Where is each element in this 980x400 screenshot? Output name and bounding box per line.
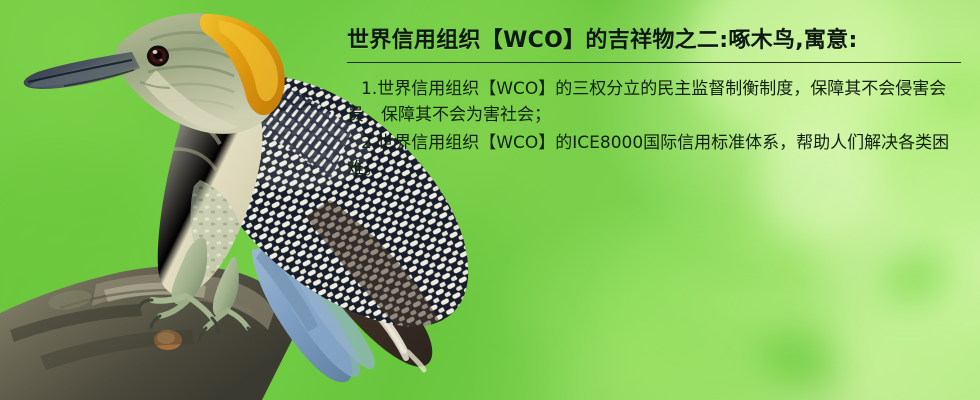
wco-mascot-banner: 世界信用组织【WCO】的吉祥物之二:啄木鸟,寓意: 1.世界信用组织【WCO】的… xyxy=(0,0,980,400)
tree-branch xyxy=(0,266,292,400)
bird-head xyxy=(24,13,285,136)
banner-text-block: 世界信用组织【WCO】的吉祥物之二:啄木鸟,寓意: 1.世界信用组织【WCO】的… xyxy=(347,26,961,182)
headline-divider xyxy=(347,62,961,63)
mascot-meaning-list: 1.世界信用组织【WCO】的三权分立的民主监督制衡制度，保障其不会侵害会员，保障… xyxy=(347,76,961,182)
banner-headline: 世界信用组织【WCO】的吉祥物之二:啄木鸟,寓意: xyxy=(347,26,961,56)
list-item: 1.世界信用组织【WCO】的三权分立的民主监督制衡制度，保障其不会侵害会员，保障… xyxy=(347,76,961,128)
list-item: 2.世界信用组织【WCO】的ICE8000国际信用标准体系，帮助人们解决各类困难… xyxy=(347,130,961,182)
